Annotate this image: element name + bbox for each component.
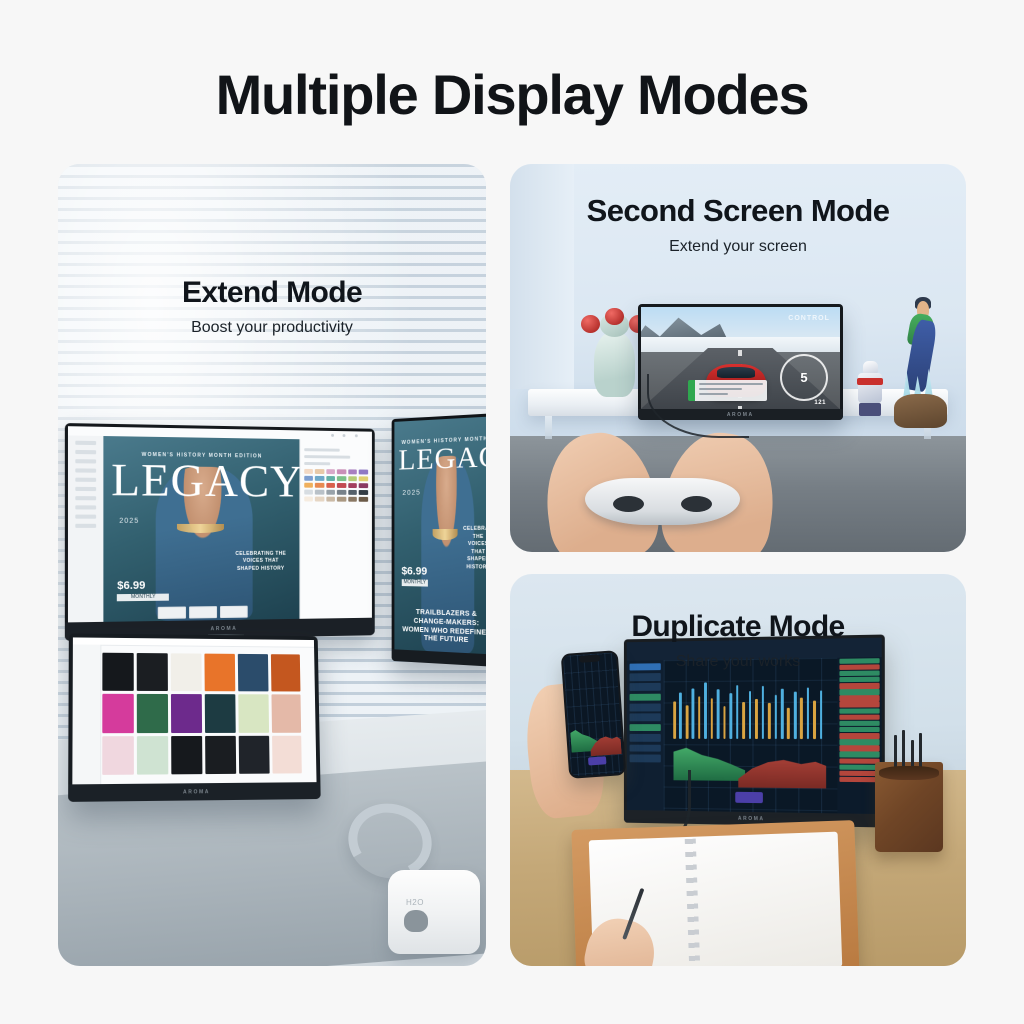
figure-monster-body: [594, 332, 635, 397]
cover-necklace: [177, 523, 224, 532]
magazine-title-portrait: LEGACY: [398, 442, 486, 473]
magazine-cover-artwork: WOMEN'S HISTORY MONTH EDITION LEGACY 202…: [103, 436, 299, 622]
portable-monitor-portrait: WOMEN'S HISTORY MONTH EDITION LEGACY 202…: [392, 413, 486, 668]
figure-mecha-legs: [859, 403, 881, 416]
humidifier-button[interactable]: [404, 910, 428, 932]
magazine-price-value: $6.99: [117, 580, 145, 592]
panel-extend-caption: Extend Mode Boost your productivity: [58, 276, 486, 337]
panel-extend-subtitle: Boost your productivity: [58, 318, 486, 337]
magazine-blurb: CELEBRATING THE VOICES THAT SHAPED HISTO…: [234, 551, 288, 574]
magazine-blurb-portrait: CELEBRATING THE VOICES THAT SHAPED HISTO…: [463, 526, 486, 572]
figure-anime-hero: [889, 296, 953, 428]
portable-monitor-brand-logo: AROMA: [183, 789, 210, 795]
magazine-cover-portrait: WOMEN'S HISTORY MONTH EDITION LEGACY 202…: [394, 416, 486, 655]
panel-second-screen-caption: Second Screen Mode Extend your screen: [510, 194, 966, 256]
desktop-monitor: WOMEN'S HISTORY MONTH EDITION LEGACY 202…: [65, 423, 375, 641]
magazine-year: 2025: [119, 518, 139, 525]
panel-second-screen-title: Second Screen Mode: [510, 194, 966, 228]
monitor-brand-logo: AROMA: [211, 626, 238, 632]
page-title: Multiple Display Modes: [0, 62, 1024, 127]
smartphone-screen: [563, 653, 624, 778]
figure-monster-pod-left: [581, 315, 600, 333]
game-hud-speed: 121: [814, 400, 826, 406]
panel-duplicate-caption: Duplicate Mode Share your works: [510, 610, 966, 671]
pen-cup-rim: [879, 766, 939, 780]
player-hands: [546, 428, 774, 552]
magazine-price-value-portrait: $6.99: [401, 565, 427, 577]
panel-second-screen-subtitle: Extend your screen: [510, 237, 966, 256]
panel-extend-mode[interactable]: WOMEN'S HISTORY MONTH EDITION LEGACY 202…: [58, 164, 486, 966]
controller-right-stick[interactable]: [681, 496, 712, 512]
humidifier: H2O: [388, 870, 480, 954]
portable-monitor-landscape: AROMA: [68, 633, 321, 802]
panel-duplicate-mode[interactable]: AROMA Duplicate Mo: [510, 574, 966, 966]
game-controller[interactable]: [585, 478, 740, 525]
magazine-price-note-portrait: MONTHLY: [401, 579, 428, 586]
magazine-price-portrait: $6.99 MONTHLY: [401, 566, 428, 586]
figure-mecha-accent: [857, 378, 883, 385]
design-canvas: WOMEN'S HISTORY MONTH EDITION LEGACY 202…: [103, 436, 299, 622]
panel-extend-title: Extend Mode: [58, 276, 486, 309]
product-feature-page: Multiple Display Modes WOMEN'S HISTORY: [0, 0, 1024, 1024]
magazine-year-portrait: 2025: [402, 489, 420, 496]
panel-second-screen-mode[interactable]: 5 121 CONTROL AROMA: [510, 164, 966, 552]
game-hud-gear: 5: [780, 354, 828, 401]
desktop-monitor-screen: WOMEN'S HISTORY MONTH EDITION LEGACY 202…: [68, 426, 372, 622]
portable-monitor-landscape-screen: [72, 637, 316, 784]
magazine-price: $6.99 MONTHLY: [117, 580, 169, 601]
figure-mecha-robot: [847, 358, 893, 416]
magazine-cover-band: TRAILBLAZERS & CHANGE-MAKERS: WOMEN WHO …: [400, 609, 486, 648]
design-app-properties-panel[interactable]: [299, 439, 372, 619]
game-watermark: CONTROL: [788, 315, 830, 322]
panel-duplicate-subtitle: Share your works: [510, 652, 966, 671]
trading-action-badge[interactable]: [735, 792, 763, 803]
humidifier-label: H2O: [406, 898, 424, 907]
design-app-left-rail: [68, 435, 104, 622]
controller-left-stick[interactable]: [613, 496, 644, 512]
gallery-app-toolbar: [73, 637, 314, 647]
leather-notebook: [571, 820, 859, 966]
portable-monitor-landscape-chin: AROMA: [68, 782, 321, 802]
magazine-title: LEGACY: [111, 458, 291, 502]
trading-monitor-brand-logo: AROMA: [738, 815, 765, 821]
pens-in-cup: [890, 730, 928, 770]
magazine-price-note: MONTHLY: [117, 594, 169, 602]
panel-duplicate-title: Duplicate Mode: [510, 610, 966, 643]
template-gallery-grid[interactable]: [103, 652, 303, 775]
color-swatch-grid[interactable]: [304, 469, 368, 502]
candlestick-series: [671, 667, 831, 739]
gallery-app-sidebar: [72, 644, 101, 784]
portable-monitor-portrait-screen: WOMEN'S HISTORY MONTH EDITION LEGACY 202…: [394, 416, 486, 655]
figure-hero-base: [894, 394, 948, 428]
wooden-pen-cup: [875, 762, 943, 852]
